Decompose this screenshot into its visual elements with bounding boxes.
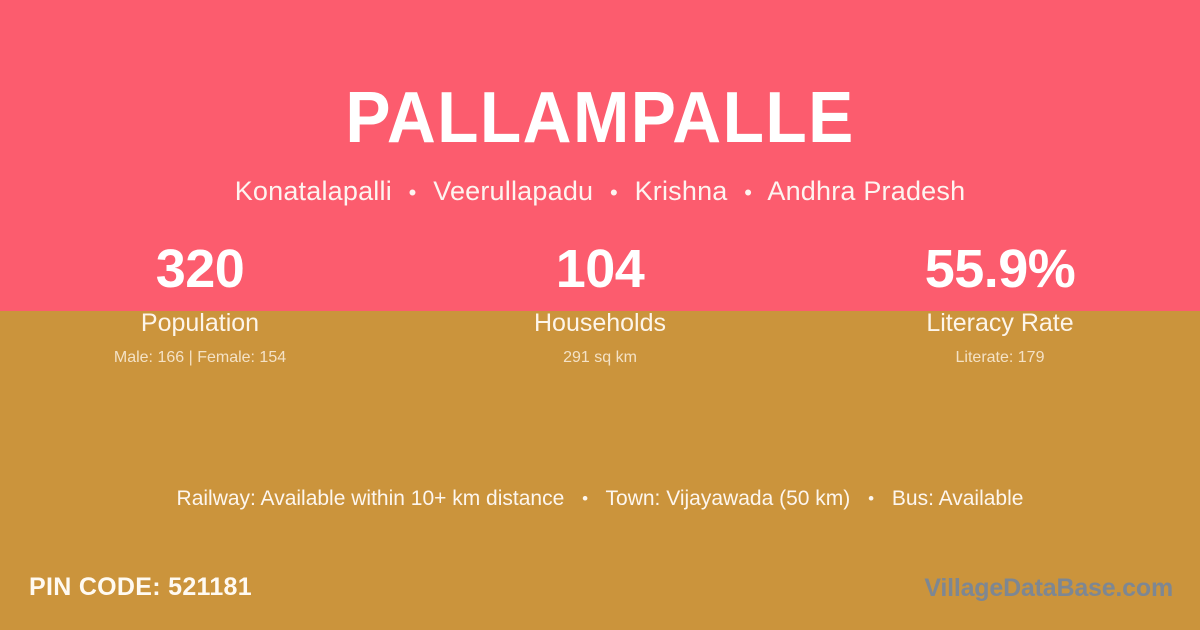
pin-code: PIN CODE: 521181 — [29, 572, 252, 602]
stat-label: Literacy Rate — [800, 308, 1200, 338]
stat-sublabel: Male: 166 | Female: 154 — [0, 348, 400, 368]
amenity-bus: Bus: Available — [892, 487, 1024, 510]
breadcrumb-part-state: Andhra Pradesh — [767, 176, 965, 206]
stat-label: Population — [0, 308, 400, 338]
bullet-icon: • — [735, 182, 761, 204]
amenity-railway: Railway: Available within 10+ km distanc… — [177, 487, 565, 510]
bullet-icon: • — [400, 182, 426, 204]
stat-value: 55.9% — [800, 238, 1200, 300]
breadcrumb-part-mandal: Veerullapadu — [433, 176, 593, 206]
breadcrumb-part-district: Krishna — [635, 176, 728, 206]
bullet-icon: • — [856, 482, 886, 516]
card-header: PALLAMPALLE Konatalapalli • Veerullapadu… — [0, 0, 1200, 205]
village-info-card: PALLAMPALLE Konatalapalli • Veerullapadu… — [0, 0, 1200, 630]
bullet-icon: • — [601, 182, 627, 204]
page-title: PALLAMPALLE — [36, 0, 1164, 154]
stat-value: 320 — [0, 238, 400, 300]
card-footer: PIN CODE: 521181 VillageDataBase.com — [0, 560, 1200, 630]
stat-sublabel: Literate: 179 — [800, 348, 1200, 368]
stat-sublabel: 291 sq km — [400, 348, 800, 368]
site-watermark: VillageDataBase.com — [924, 573, 1173, 603]
breadcrumb-part-village: Konatalapalli — [235, 176, 392, 206]
bullet-icon: • — [570, 482, 600, 516]
stat-literacy-rate: 55.9% Literacy Rate Literate: 179 — [800, 238, 1200, 368]
breadcrumb: Konatalapalli • Veerullapadu • Krishna •… — [0, 154, 1200, 205]
stat-population: 320 Population Male: 166 | Female: 154 — [0, 238, 400, 368]
stat-households: 104 Households 291 sq km — [400, 238, 800, 368]
stat-value: 104 — [400, 238, 800, 300]
stat-label: Households — [400, 308, 800, 338]
amenity-town: Town: Vijayawada (50 km) — [606, 487, 851, 510]
amenities-line: Railway: Available within 10+ km distanc… — [0, 482, 1200, 516]
stats-row: 320 Population Male: 166 | Female: 154 1… — [0, 238, 1200, 368]
